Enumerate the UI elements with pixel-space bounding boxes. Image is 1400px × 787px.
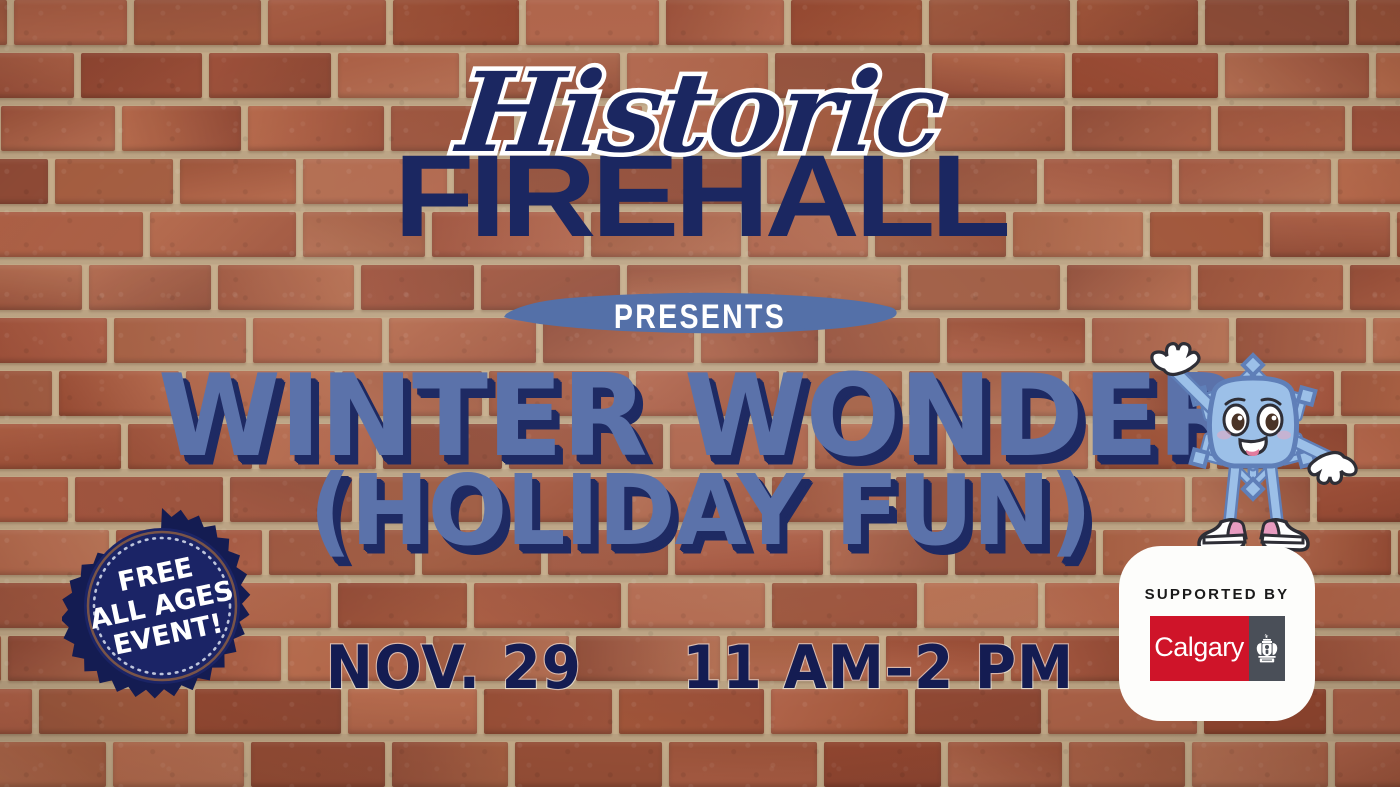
brick <box>825 318 940 363</box>
brick-row <box>0 53 1400 98</box>
brick <box>935 106 1065 151</box>
brick <box>128 424 252 469</box>
brick <box>1179 159 1331 204</box>
brick <box>389 318 536 363</box>
brick <box>1013 212 1143 257</box>
brick <box>81 53 202 98</box>
brick <box>947 318 1085 363</box>
brick <box>771 689 908 734</box>
brick <box>489 477 623 522</box>
brick <box>348 689 477 734</box>
brick <box>0 0 7 45</box>
brick <box>748 212 868 257</box>
brick-row <box>0 212 1400 257</box>
brick <box>772 477 889 522</box>
brick <box>953 424 1088 469</box>
brick <box>830 530 948 575</box>
brick <box>1338 159 1400 204</box>
badge-text-group: FREE ALL AGES EVENT! <box>43 487 280 724</box>
brick <box>649 106 786 151</box>
brick <box>209 53 331 98</box>
brick <box>908 265 1060 310</box>
city-crest-block <box>1249 616 1285 681</box>
brick <box>521 106 642 151</box>
brick <box>0 53 74 98</box>
brick <box>433 636 569 681</box>
brick <box>122 106 241 151</box>
brick <box>432 212 584 257</box>
brick <box>0 689 32 734</box>
brick <box>248 106 384 151</box>
brick-row <box>0 265 1400 310</box>
brick <box>793 106 928 151</box>
brick <box>1376 53 1400 98</box>
brick <box>772 583 917 628</box>
brick <box>0 742 106 787</box>
free-event-badge: FREE ALL AGES EVENT! <box>62 506 262 706</box>
brick <box>338 583 467 628</box>
brick-row <box>0 159 1400 204</box>
brick <box>515 742 662 787</box>
brick <box>767 159 903 204</box>
brick <box>627 265 741 310</box>
brick <box>627 53 768 98</box>
brick <box>548 530 668 575</box>
brick <box>791 0 922 45</box>
brick <box>932 53 1065 98</box>
brick <box>509 424 663 469</box>
brick <box>0 159 48 204</box>
city-crest-icon <box>1254 632 1280 666</box>
supported-by-label: SUPPORTED BY <box>1145 586 1290 603</box>
brick <box>1044 159 1172 204</box>
brick <box>915 689 1041 734</box>
brick <box>748 265 901 310</box>
calgary-wordmark-text: Calgary <box>1154 634 1244 663</box>
brick <box>1067 265 1191 310</box>
brick <box>303 159 447 204</box>
brick <box>55 159 173 204</box>
brick <box>454 159 601 204</box>
brick <box>1218 106 1345 151</box>
brick <box>0 212 143 257</box>
brick <box>824 742 941 787</box>
calgary-wordmark-block: Calgary <box>1150 616 1249 681</box>
brick <box>924 583 1038 628</box>
brick <box>1077 0 1198 45</box>
brick <box>1225 53 1369 98</box>
brick <box>466 53 620 98</box>
brick <box>701 318 818 363</box>
brick <box>910 159 1037 204</box>
brick <box>0 477 68 522</box>
brick <box>0 636 1 681</box>
brick <box>489 371 629 416</box>
brick <box>361 265 474 310</box>
brick <box>150 212 296 257</box>
brick <box>929 0 1070 45</box>
brick <box>591 212 741 257</box>
brick <box>338 53 459 98</box>
brick <box>875 212 1006 257</box>
brick <box>628 583 765 628</box>
brick <box>186 371 335 416</box>
brick <box>1270 212 1390 257</box>
brick <box>268 0 386 45</box>
brick <box>669 742 817 787</box>
brick <box>955 530 1096 575</box>
brick <box>269 530 415 575</box>
brick <box>909 371 1062 416</box>
brick <box>786 371 902 416</box>
brick <box>180 159 296 204</box>
brick <box>392 742 508 787</box>
brick <box>393 0 519 45</box>
brick <box>670 424 808 469</box>
brick <box>666 0 784 45</box>
brick <box>948 742 1062 787</box>
brick <box>383 424 502 469</box>
brick <box>0 318 107 363</box>
brick <box>481 265 620 310</box>
event-poster: Historic FIREHALL PRESENTS WINTER WONDER… <box>0 0 1400 787</box>
brick <box>636 371 779 416</box>
brick <box>1205 0 1349 45</box>
brick <box>608 159 760 204</box>
brick <box>342 371 482 416</box>
brick <box>1350 265 1400 310</box>
brick-row <box>0 106 1400 151</box>
brick <box>1198 265 1343 310</box>
snowflake-mascot-icon <box>1128 332 1378 582</box>
brick <box>1356 0 1400 45</box>
brick <box>1069 742 1185 787</box>
brick <box>59 371 179 416</box>
brick <box>422 530 541 575</box>
brick-row <box>0 0 1400 45</box>
brick <box>1333 689 1400 734</box>
brick <box>675 530 823 575</box>
brick <box>218 265 354 310</box>
brick <box>114 318 246 363</box>
sponsor-card: SUPPORTED BY Calgary <box>1119 546 1315 721</box>
calgary-logo: Calgary <box>1150 616 1285 681</box>
brick <box>896 477 1039 522</box>
brick <box>1 106 115 151</box>
brick <box>576 636 720 681</box>
brick <box>1192 742 1328 787</box>
mascot-face <box>1209 378 1296 466</box>
brick <box>251 742 385 787</box>
brick <box>619 689 764 734</box>
brick <box>1335 742 1400 787</box>
brick <box>775 53 925 98</box>
brick <box>474 583 621 628</box>
brick <box>543 318 694 363</box>
brick <box>630 477 765 522</box>
brick <box>1011 636 1123 681</box>
brick <box>815 424 946 469</box>
brick <box>391 106 514 151</box>
brick <box>1352 106 1400 151</box>
brick <box>886 636 1004 681</box>
brick <box>727 636 879 681</box>
brick <box>288 636 426 681</box>
brick <box>14 0 127 45</box>
brick <box>1072 53 1218 98</box>
brick <box>253 318 382 363</box>
brick <box>1150 212 1263 257</box>
brick <box>359 477 482 522</box>
brick <box>526 0 659 45</box>
brick-row <box>0 742 1400 787</box>
brick <box>303 212 425 257</box>
brick <box>0 424 121 469</box>
brick <box>0 371 52 416</box>
brick <box>484 689 612 734</box>
brick <box>0 265 82 310</box>
brick <box>113 742 244 787</box>
brick <box>89 265 211 310</box>
brick <box>1072 106 1211 151</box>
brick <box>259 424 376 469</box>
brick <box>134 0 261 45</box>
